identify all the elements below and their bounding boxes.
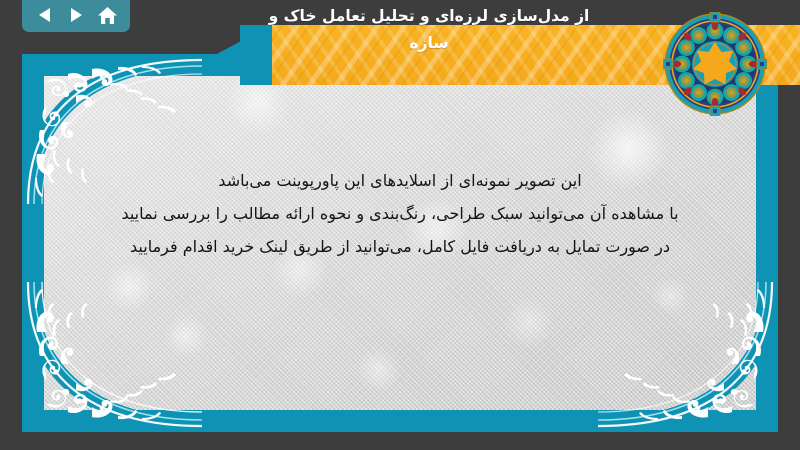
body-line-3: در صورت تمایل به دریافت فایل کامل، می‌تو…	[44, 230, 756, 263]
triangle-right-icon	[66, 6, 86, 24]
navigation-bar[interactable]	[22, 0, 130, 32]
triangle-left-icon	[35, 6, 55, 24]
persian-medallion-ornament	[663, 12, 767, 116]
home-button[interactable]	[94, 3, 120, 27]
slide-body-text: این تصویر نمونه‌ای از اسلایدهای این پاور…	[44, 164, 756, 263]
back-button[interactable]	[32, 3, 58, 27]
home-icon	[97, 6, 118, 25]
slide-root: این تصویر نمونه‌ای از اسلایدهای این پاور…	[0, 0, 800, 450]
forward-button[interactable]	[63, 3, 89, 27]
title-line-1: طراحی مقاوم خطوط لوله مدفون با استفاده	[194, 0, 664, 3]
body-line-2: با مشاهده آن می‌توانید سبک طراحی، رنگ‌بن…	[44, 197, 756, 230]
slide-content-area: این تصویر نمونه‌ای از اسلایدهای این پاور…	[44, 76, 756, 410]
body-line-1: این تصویر نمونه‌ای از اسلایدهای این پاور…	[44, 164, 756, 197]
